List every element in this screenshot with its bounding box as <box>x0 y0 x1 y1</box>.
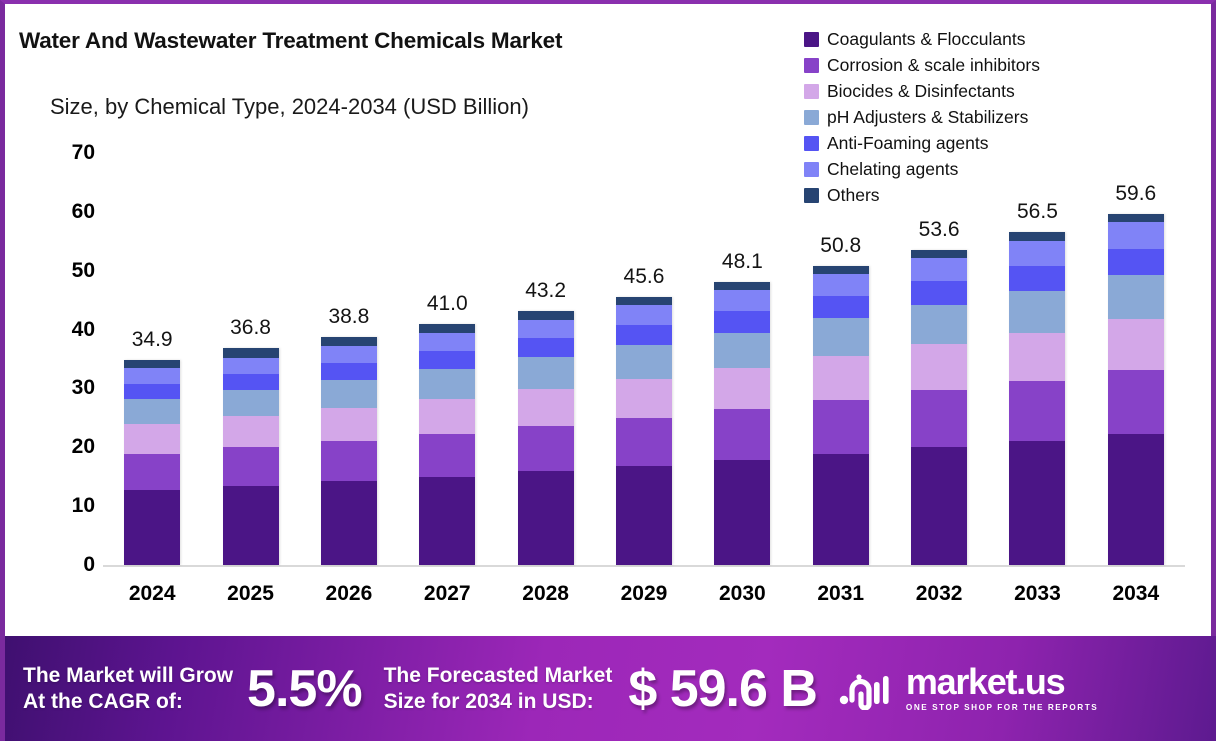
bar-segment[interactable] <box>419 333 475 351</box>
bar-value-label: 36.8 <box>230 316 271 340</box>
bar-segment[interactable] <box>616 345 672 379</box>
bar-group[interactable]: 45.62029 <box>595 4 693 632</box>
bar-group[interactable]: 59.62034 <box>1087 4 1185 632</box>
x-axis-tick-label: 2027 <box>424 582 471 606</box>
bar-segment[interactable] <box>1009 333 1065 381</box>
bar-segment[interactable] <box>911 305 967 344</box>
x-axis-tick-label: 2030 <box>719 582 766 606</box>
bar-segment[interactable] <box>223 358 279 374</box>
bar-segment[interactable] <box>321 481 377 565</box>
bar-segment[interactable] <box>223 416 279 447</box>
y-axis-tick-label: 60 <box>41 200 95 224</box>
bar-value-label: 59.6 <box>1115 182 1156 206</box>
bar-value-label: 50.8 <box>820 234 861 258</box>
cagr-label-line2: At the CAGR of: <box>23 689 233 715</box>
bar-segment[interactable] <box>124 490 180 565</box>
bar-segment[interactable] <box>616 305 672 325</box>
bar-segment[interactable] <box>419 351 475 369</box>
y-axis-tick-label: 0 <box>41 553 95 577</box>
bar-segment[interactable] <box>223 447 279 485</box>
y-axis-tick-label: 70 <box>41 141 95 165</box>
x-axis-tick-label: 2024 <box>129 582 176 606</box>
bar-group[interactable]: 38.82026 <box>300 4 398 632</box>
bar-segment[interactable] <box>1108 434 1164 565</box>
bar-segment[interactable] <box>321 441 377 482</box>
bar-segment[interactable] <box>419 399 475 434</box>
infographic-root: Water And Wastewater Treatment Chemicals… <box>0 0 1216 741</box>
chart-plot-area: 010203040506070 34.9202436.8202538.82026… <box>5 4 1216 632</box>
stacked-bar[interactable] <box>714 282 770 565</box>
bar-segment[interactable] <box>813 400 869 454</box>
x-axis-tick-label: 2028 <box>522 582 569 606</box>
bar-segment[interactable] <box>616 297 672 306</box>
bar-segment[interactable] <box>1108 222 1164 248</box>
bar-segment[interactable] <box>1009 441 1065 565</box>
bar-segment[interactable] <box>223 390 279 416</box>
bar-segment[interactable] <box>223 348 279 357</box>
bar-segment[interactable] <box>223 486 279 565</box>
bar-segment[interactable] <box>1009 266 1065 291</box>
bar-segment[interactable] <box>419 324 475 333</box>
bar-segment[interactable] <box>1108 319 1164 370</box>
bar-segment[interactable] <box>518 311 574 320</box>
stacked-bar[interactable] <box>1108 214 1164 565</box>
bar-group[interactable]: 53.62032 <box>890 4 988 632</box>
bar-segment[interactable] <box>321 337 377 346</box>
bar-segment[interactable] <box>813 356 869 400</box>
cagr-label-block: The Market will Grow At the CAGR of: <box>23 663 233 714</box>
bar-segment[interactable] <box>1009 241 1065 266</box>
bar-segment[interactable] <box>321 363 377 380</box>
bar-segment[interactable] <box>518 389 574 425</box>
bar-segment[interactable] <box>518 471 574 565</box>
bar-segment[interactable] <box>419 434 475 477</box>
bar-segment[interactable] <box>616 418 672 466</box>
bar-segment[interactable] <box>1009 381 1065 441</box>
bar-segment[interactable] <box>124 454 180 490</box>
forecast-value: $ 59.6 B <box>628 659 817 719</box>
x-axis-tick-label: 2025 <box>227 582 274 606</box>
bar-segment[interactable] <box>813 274 869 296</box>
stacked-bar[interactable] <box>321 337 377 565</box>
y-axis-tick-label: 30 <box>41 376 95 400</box>
market-us-logo[interactable]: market.us ONE STOP SHOP FOR THE REPORTS <box>839 664 1098 712</box>
bar-segment[interactable] <box>911 447 967 565</box>
bar-segment[interactable] <box>518 426 574 472</box>
bar-segment[interactable] <box>911 250 967 258</box>
bar-group[interactable]: 41.02027 <box>398 4 496 632</box>
bar-segment[interactable] <box>714 290 770 311</box>
bar-value-label: 43.2 <box>525 279 566 303</box>
bar-segment[interactable] <box>911 281 967 305</box>
bar-value-label: 41.0 <box>427 292 468 316</box>
bar-segment[interactable] <box>124 424 180 453</box>
bar-segment[interactable] <box>616 466 672 565</box>
bar-segment[interactable] <box>518 357 574 389</box>
bar-segment[interactable] <box>911 344 967 390</box>
stacked-bar[interactable] <box>813 266 869 565</box>
bar-segment[interactable] <box>714 409 770 460</box>
bar-segment[interactable] <box>321 408 377 441</box>
x-axis-tick-label: 2032 <box>916 582 963 606</box>
y-axis-tick-label: 10 <box>41 494 95 518</box>
market-us-logomark-icon <box>839 666 897 710</box>
bar-segment[interactable] <box>714 460 770 565</box>
summary-banner: The Market will Grow At the CAGR of: 5.5… <box>5 636 1216 741</box>
cagr-label-line1: The Market will Grow <box>23 663 233 689</box>
bar-segment[interactable] <box>813 454 869 565</box>
bar-groups: 34.9202436.8202538.8202641.0202743.22028… <box>103 4 1185 632</box>
stacked-bar[interactable] <box>223 348 279 565</box>
stacked-bar[interactable] <box>616 297 672 565</box>
bar-group[interactable]: 56.52033 <box>988 4 1086 632</box>
bar-segment[interactable] <box>419 369 475 399</box>
bar-group[interactable]: 36.82025 <box>201 4 299 632</box>
x-axis-tick-label: 2033 <box>1014 582 1061 606</box>
bar-group[interactable]: 43.22028 <box>496 4 594 632</box>
bar-segment[interactable] <box>911 390 967 447</box>
stacked-bar[interactable] <box>518 311 574 565</box>
forecast-label-block: The Forecasted Market Size for 2034 in U… <box>384 663 613 714</box>
bar-segment[interactable] <box>124 368 180 383</box>
x-axis-tick-label: 2026 <box>326 582 373 606</box>
y-axis-tick-label: 20 <box>41 435 95 459</box>
bar-segment[interactable] <box>1009 291 1065 333</box>
bar-segment[interactable] <box>518 338 574 357</box>
bar-group[interactable]: 48.12030 <box>693 4 791 632</box>
x-axis-tick-label: 2034 <box>1112 582 1159 606</box>
bar-segment[interactable] <box>714 282 770 290</box>
bar-segment[interactable] <box>1009 232 1065 241</box>
cagr-value: 5.5% <box>247 659 362 719</box>
stacked-bar[interactable] <box>124 360 180 565</box>
y-axis-tick-label: 40 <box>41 318 95 342</box>
bar-segment[interactable] <box>1108 275 1164 319</box>
bar-value-label: 45.6 <box>624 265 665 289</box>
bar-segment[interactable] <box>518 320 574 339</box>
logo-name: market.us <box>906 664 1098 700</box>
bar-segment[interactable] <box>1108 370 1164 434</box>
bar-segment[interactable] <box>1108 214 1164 222</box>
bar-segment[interactable] <box>124 384 180 399</box>
stacked-bar[interactable] <box>1009 232 1065 565</box>
bar-segment[interactable] <box>321 346 377 363</box>
bar-group[interactable]: 34.92024 <box>103 4 201 632</box>
bar-segment[interactable] <box>616 379 672 418</box>
y-axis: 010203040506070 <box>41 4 95 632</box>
x-axis-tick-label: 2029 <box>621 582 668 606</box>
bar-segment[interactable] <box>1108 249 1164 275</box>
bar-segment[interactable] <box>911 258 967 282</box>
stacked-bar[interactable] <box>419 324 475 565</box>
bar-value-label: 56.5 <box>1017 200 1058 224</box>
bar-segment[interactable] <box>419 477 475 565</box>
bar-segment[interactable] <box>714 333 770 368</box>
bar-value-label: 53.6 <box>919 218 960 242</box>
bar-group[interactable]: 50.82031 <box>792 4 890 632</box>
bar-segment[interactable] <box>813 318 869 356</box>
bar-value-label: 34.9 <box>132 328 173 352</box>
bar-segment[interactable] <box>714 368 770 409</box>
bar-segment[interactable] <box>714 311 770 332</box>
logo-wordmark: market.us ONE STOP SHOP FOR THE REPORTS <box>906 664 1098 712</box>
bar-segment[interactable] <box>813 266 869 274</box>
bar-segment[interactable] <box>616 325 672 345</box>
stacked-bar[interactable] <box>911 250 967 565</box>
bar-value-label: 38.8 <box>328 305 369 329</box>
bar-segment[interactable] <box>321 380 377 408</box>
bar-value-label: 48.1 <box>722 250 763 274</box>
forecast-label-line1: The Forecasted Market <box>384 663 613 689</box>
x-axis-tick-label: 2031 <box>817 582 864 606</box>
bar-segment[interactable] <box>124 360 180 369</box>
bar-segment[interactable] <box>124 399 180 424</box>
bar-segment[interactable] <box>813 296 869 318</box>
bar-segment[interactable] <box>223 374 279 390</box>
y-axis-tick-label: 50 <box>41 259 95 283</box>
logo-tagline: ONE STOP SHOP FOR THE REPORTS <box>906 704 1098 712</box>
forecast-label-line2: Size for 2034 in USD: <box>384 689 613 715</box>
